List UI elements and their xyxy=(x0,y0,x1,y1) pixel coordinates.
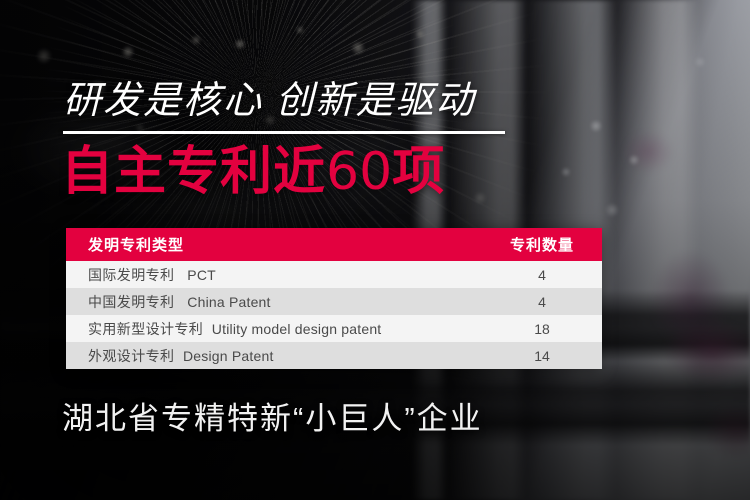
headline-primary: 研发是核心 创新是驱动 xyxy=(63,79,476,123)
banner-content: 研发是核心 创新是驱动 自主专利近60项 发明专利类型 专利数量 国际发明专利 … xyxy=(0,0,750,500)
patent-type-en: Utility model design patent xyxy=(212,321,382,337)
table-row: 实用新型设计专利 Utility model design patent 18 xyxy=(66,315,602,342)
table-header-row: 发明专利类型 专利数量 xyxy=(66,228,602,261)
cell-patent-count: 18 xyxy=(482,321,602,337)
patent-type-cn: 国际发明专利 xyxy=(88,267,174,283)
patent-table: 发明专利类型 专利数量 国际发明专利 PCT 4 中国发明专利 China Pa… xyxy=(66,228,602,369)
headline-secondary: 自主专利近60项 xyxy=(61,143,445,201)
cell-patent-type: 实用新型设计专利 Utility model design patent xyxy=(66,319,482,339)
patent-type-en: PCT xyxy=(187,267,216,283)
headline-divider-rule xyxy=(63,131,505,134)
patent-type-cn: 中国发明专利 xyxy=(88,294,174,310)
patent-type-cn: 实用新型设计专利 xyxy=(88,321,203,337)
cell-patent-type: 国际发明专利 PCT xyxy=(66,265,482,285)
column-header-count: 专利数量 xyxy=(482,234,602,255)
patent-type-en: Design Patent xyxy=(183,348,274,364)
patent-type-en: China Patent xyxy=(187,294,270,310)
cell-patent-type: 中国发明专利 China Patent xyxy=(66,292,482,312)
footer-tagline: 湖北省专精特新“小巨人”企业 xyxy=(62,400,483,438)
cell-patent-count: 4 xyxy=(482,267,602,283)
table-row: 外观设计专利 Design Patent 14 xyxy=(66,342,602,369)
cell-patent-count: 4 xyxy=(482,294,602,310)
patent-type-cn: 外观设计专利 xyxy=(88,348,174,364)
table-row: 国际发明专利 PCT 4 xyxy=(66,261,602,288)
patent-banner: 研发是核心 创新是驱动 自主专利近60项 发明专利类型 专利数量 国际发明专利 … xyxy=(0,0,750,500)
headline-secondary-prefix: 自主专利近 xyxy=(61,143,326,201)
cell-patent-type: 外观设计专利 Design Patent xyxy=(66,346,482,366)
column-header-type: 发明专利类型 xyxy=(66,234,482,255)
table-row: 中国发明专利 China Patent 4 xyxy=(66,288,602,315)
headline-secondary-suffix: 项 xyxy=(392,143,445,201)
headline-secondary-number: 60 xyxy=(326,142,392,202)
cell-patent-count: 14 xyxy=(482,348,602,364)
